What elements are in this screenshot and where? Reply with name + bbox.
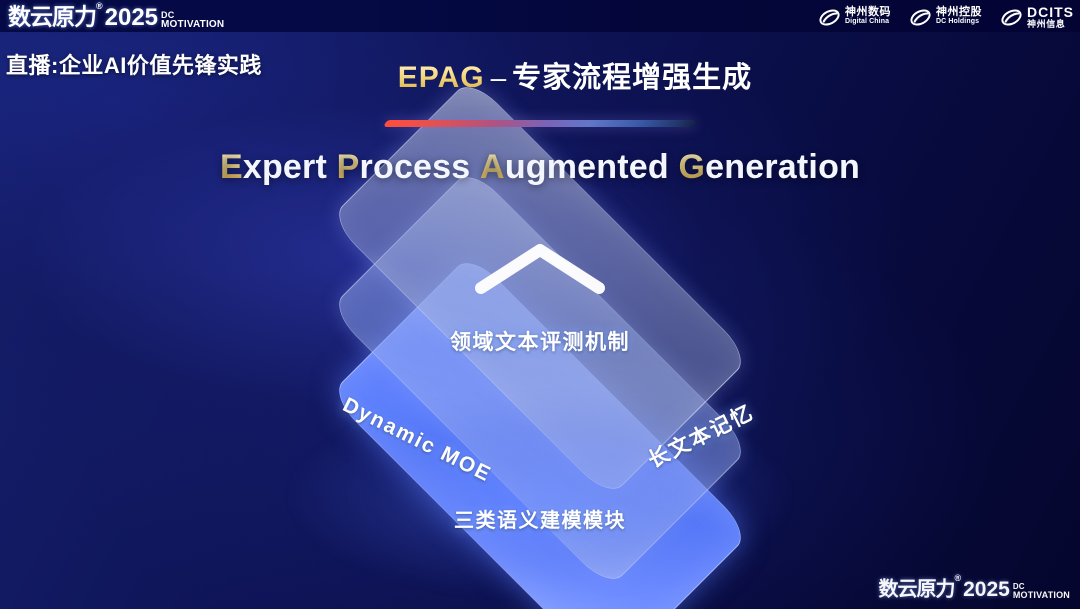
chevron-up-icon <box>473 240 607 296</box>
subheading-rest-expert: xpert <box>243 148 327 186</box>
partner-name-cn: DCITS <box>1027 5 1074 19</box>
layered-architecture-diagram: 领域文本评测机制 Dynamic MOE 长文本记忆 三类语义建模模块 <box>219 196 861 596</box>
partner-label: 神州数码 Digital China <box>845 7 891 27</box>
diagram-label-bottom: 三类语义建模模块 <box>219 504 861 533</box>
subheading-english: Expert Process Augmented Generation <box>0 148 1080 187</box>
partner-logo-digital-china: 神州数码 Digital China <box>818 6 891 29</box>
subheading-rest-generation: eneration <box>705 148 860 186</box>
registered-mark: ® <box>96 1 103 11</box>
subheading-cap-a: A <box>480 148 505 186</box>
watermark-registered-mark: ® <box>954 573 961 583</box>
watermark-year: 2025 <box>963 579 1010 601</box>
brand-logo-cn: 数云原力® <box>8 1 103 30</box>
brand-logo: 数云原力® 2025 DC MOTIVATION <box>8 1 224 30</box>
brand-logo-year: 2025 <box>105 5 158 30</box>
subheading-cap-g: G <box>679 148 706 186</box>
swoosh-icon <box>1000 6 1023 29</box>
subheading-cap-p: P <box>337 148 360 186</box>
partner-name-en: 神州信息 <box>1027 19 1074 29</box>
watermark-cn: 数云原力® <box>878 574 961 601</box>
gradient-divider <box>383 120 697 127</box>
headline-dash: – <box>485 62 513 93</box>
partner-name-cn: 神州数码 <box>845 7 891 17</box>
brand-logo-dc-motivation: DC MOTIVATION <box>161 11 224 30</box>
live-session-title: 直播:企业AI价值先锋实践 <box>6 48 262 80</box>
partner-name-en: Digital China <box>845 17 891 27</box>
headline-title-cn: 专家流程增强生成 <box>512 62 752 94</box>
partner-label: DCITS 神州信息 <box>1027 5 1074 29</box>
partner-name-en: DC Holdings <box>936 17 982 27</box>
headline-inner: EPAG–专家流程增强生成 <box>328 54 752 96</box>
partner-name-cn: 神州控股 <box>936 7 982 17</box>
slide-canvas: 数云原力® 2025 DC MOTIVATION 直播:企业AI价值先锋实践 神… <box>0 0 1080 609</box>
partner-logo-dc-holdings: 神州控股 DC Holdings <box>909 6 982 29</box>
subheading-rest-process: rocess <box>360 148 471 186</box>
watermark-logo: 数云原力® 2025 DC MOTIVATION <box>878 574 1070 601</box>
swoosh-icon <box>818 6 841 29</box>
watermark-motivation-text: MOTIVATION <box>1013 591 1070 600</box>
partner-logo-group: 神州数码 Digital China 神州控股 DC Holdings <box>818 3 1074 31</box>
brand-motivation-text: MOTIVATION <box>161 20 224 29</box>
subheading-cap-e: E <box>220 148 243 186</box>
subheading-rest-augmented: ugmented <box>505 148 669 186</box>
partner-label: 神州控股 DC Holdings <box>936 7 982 27</box>
watermark-dc-motivation: DC MOTIVATION <box>1013 582 1070 601</box>
diagram-label-top: 领域文本评测机制 <box>219 326 861 356</box>
swoosh-icon <box>909 6 932 29</box>
partner-logo-dcits: DCITS 神州信息 <box>1000 5 1074 29</box>
